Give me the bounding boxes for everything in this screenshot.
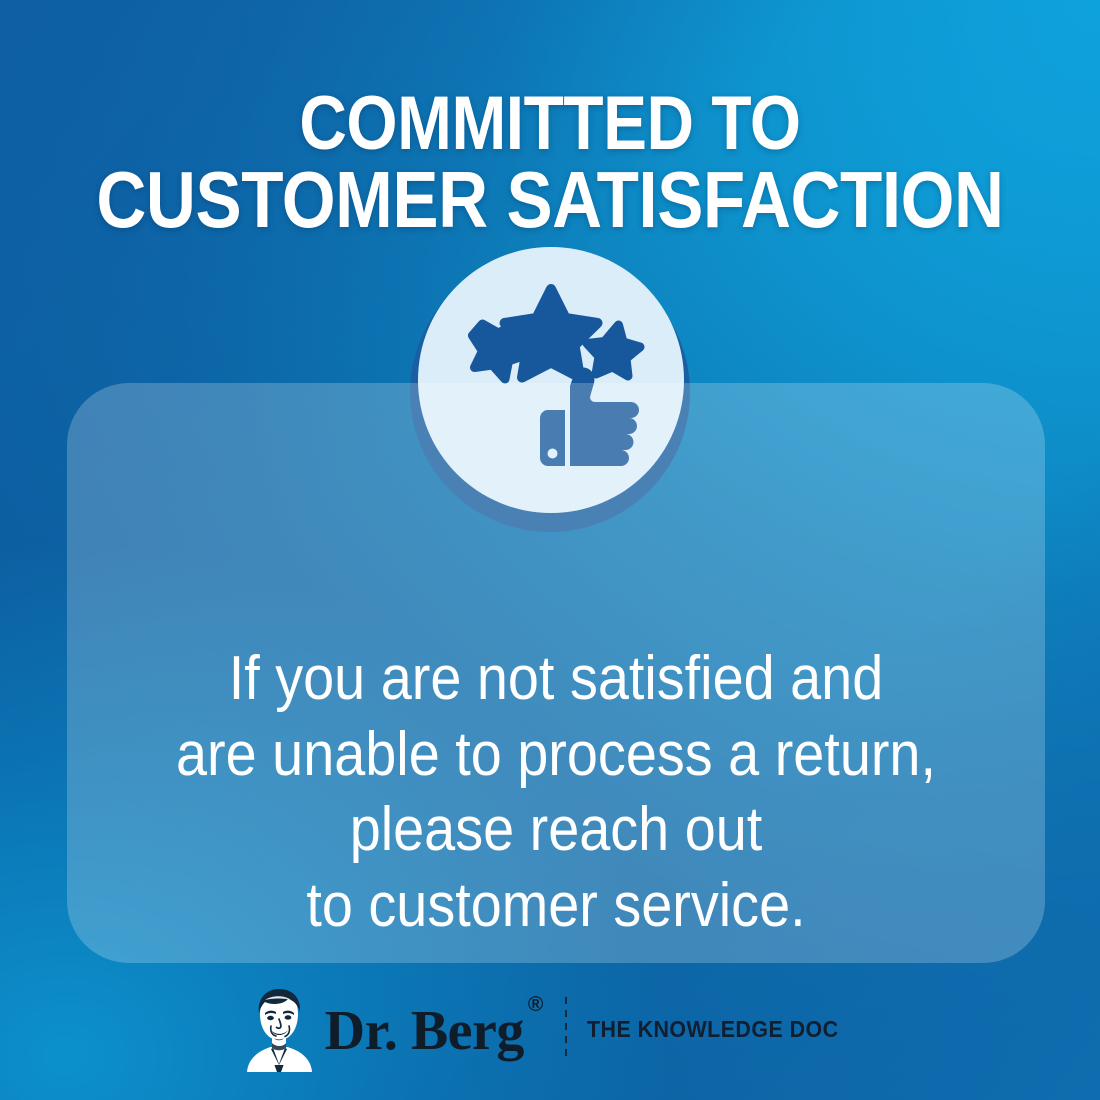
message-card: If you are not satisfied and are unable … xyxy=(67,383,1045,963)
dr-berg-portrait-icon xyxy=(243,986,315,1072)
message-line-1: If you are not satisfied and xyxy=(116,641,996,717)
headline-line-1: COMMITTED TO xyxy=(74,87,1026,161)
promo-graphic: COMMITTED TO CUSTOMER SATISFACTION xyxy=(0,0,1100,1100)
message-line-2: are unable to process a return, xyxy=(116,717,996,793)
message-text: If you are not satisfied and are unable … xyxy=(116,641,996,944)
headline-line-2: CUSTOMER SATISFACTION xyxy=(74,161,1026,239)
brand-name: Dr. Berg xyxy=(325,1000,524,1062)
logo-divider xyxy=(565,997,567,1061)
headline: COMMITTED TO CUSTOMER SATISFACTION xyxy=(74,87,1026,238)
brand-tagline: THE KNOWLEDGE DOC xyxy=(587,1016,839,1043)
message-line-4: to customer service. xyxy=(116,868,996,944)
brand-logo: Dr. Berg® THE KNOWLEDGE DOC xyxy=(0,983,1100,1075)
brand-wordmark: Dr. Berg® xyxy=(325,1003,543,1059)
message-line-3: please reach out xyxy=(116,792,996,868)
registered-trademark-icon: ® xyxy=(528,993,543,1016)
